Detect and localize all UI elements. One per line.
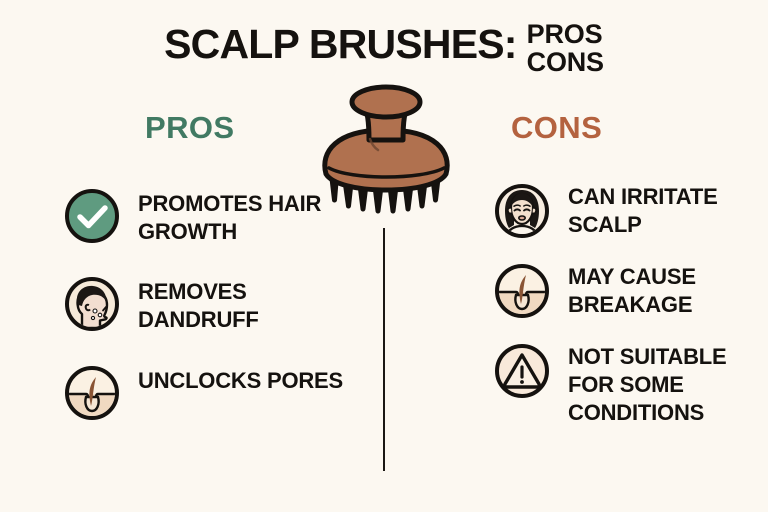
list-item: MAY CAUSE BREAKAGE <box>492 261 764 321</box>
list-item: REMOVES DANDRUFF <box>62 274 362 334</box>
title-main-text: SCALP BRUSHES: <box>164 20 517 66</box>
hair-follicle-icon <box>62 363 122 423</box>
title-stacked-cons: CONS <box>527 48 604 76</box>
infographic-poster: SCALP BRUSHES: PROS CONS PROS CONS <box>0 0 768 512</box>
list-item-label: REMOVES DANDRUFF <box>138 274 362 334</box>
pros-list: PROMOTES HAIR GROWTH <box>62 186 362 423</box>
list-item: CAN IRRITATE SCALP <box>492 181 764 241</box>
page-title: SCALP BRUSHES: PROS CONS <box>0 20 768 76</box>
cons-list: CAN IRRITATE SCALP MAY CAUSE BREAKAGE <box>492 181 764 427</box>
list-item-label: CAN IRRITATE SCALP <box>568 181 764 239</box>
title-stacked-words: PROS CONS <box>527 20 604 76</box>
check-circle-icon <box>62 186 122 246</box>
list-item-label: MAY CAUSE BREAKAGE <box>568 261 764 319</box>
face-profile-dandruff-icon <box>62 274 122 334</box>
list-item: UNCLOCKS PORES <box>62 363 362 423</box>
hair-follicle-icon <box>492 261 552 321</box>
title-stacked-pros: PROS <box>527 20 604 48</box>
list-item: PROMOTES HAIR GROWTH <box>62 186 362 246</box>
irritated-face-icon <box>492 181 552 241</box>
list-item-label: NOT SUITABLE FOR SOME CONDITIONS <box>568 341 764 427</box>
list-item-label: PROMOTES HAIR GROWTH <box>138 186 362 246</box>
vertical-divider <box>383 228 385 471</box>
cons-column-heading: CONS <box>511 110 602 146</box>
list-item: NOT SUITABLE FOR SOME CONDITIONS <box>492 341 764 427</box>
pros-column-heading: PROS <box>145 110 234 146</box>
warning-triangle-icon <box>492 341 552 401</box>
list-item-label: UNCLOCKS PORES <box>138 363 343 395</box>
